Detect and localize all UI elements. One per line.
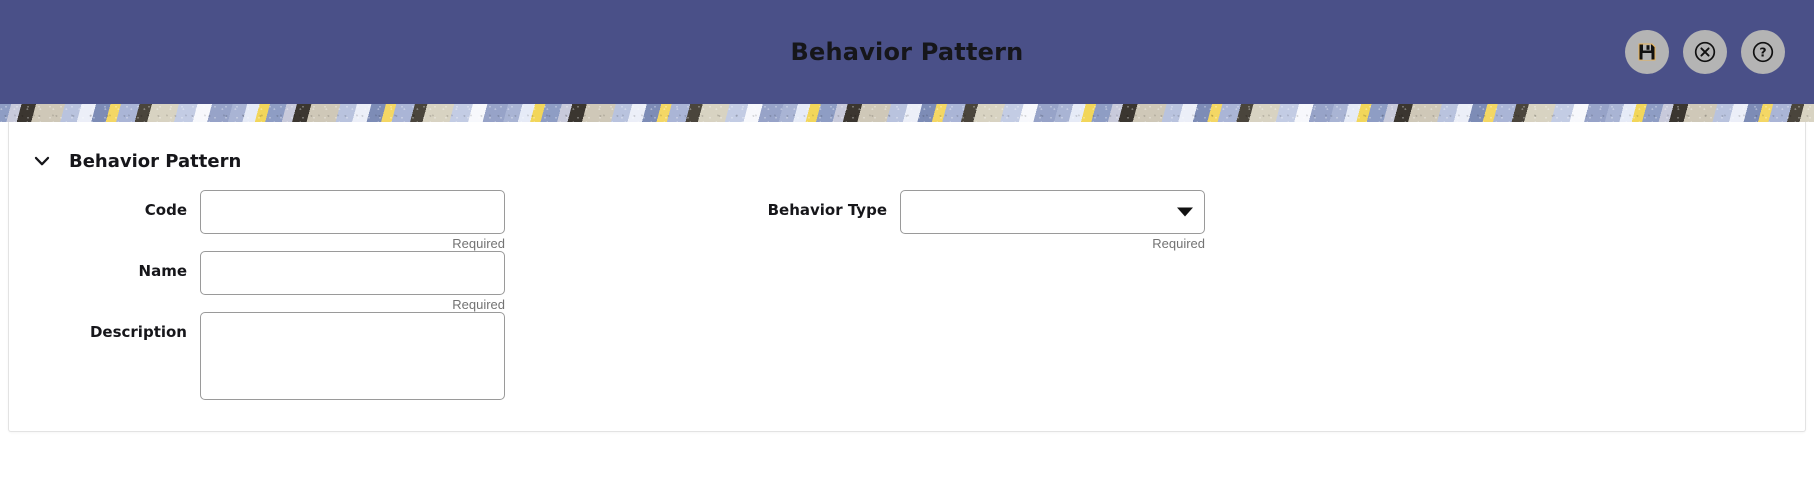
field-control-behavior-type: Required — [900, 190, 1205, 251]
field-label-behavior-type: Behavior Type — [709, 190, 900, 219]
behavior-type-select[interactable] — [900, 190, 1205, 234]
floppy-disk-icon — [1636, 41, 1658, 63]
field-control-code: Required — [200, 190, 505, 251]
save-button[interactable] — [1625, 30, 1669, 74]
titlebar-actions: ? — [1625, 30, 1785, 74]
name-input[interactable] — [200, 251, 505, 295]
code-input[interactable] — [200, 190, 505, 234]
svg-text:?: ? — [1759, 45, 1766, 60]
form-column-right: Behavior Type Required — [709, 190, 1409, 251]
cancel-button[interactable] — [1683, 30, 1727, 74]
form-card: Behavior Pattern Code Required Name — [8, 122, 1806, 432]
field-label-description: Description — [9, 312, 200, 341]
field-label-name: Name — [9, 251, 200, 280]
field-control-name: Required — [200, 251, 505, 312]
field-code: Code Required — [9, 190, 709, 251]
field-control-description — [200, 312, 505, 400]
help-button[interactable]: ? — [1741, 30, 1785, 74]
section-header: Behavior Pattern — [9, 122, 1805, 172]
titlebar: Behavior Pattern — [0, 0, 1814, 104]
close-circle-icon — [1693, 40, 1717, 64]
section-title: Behavior Pattern — [69, 151, 241, 172]
chevron-down-icon[interactable] — [31, 150, 53, 172]
field-behavior-type: Behavior Type Required — [709, 190, 1409, 251]
field-description: Description — [9, 312, 709, 400]
description-textarea[interactable] — [200, 312, 505, 400]
field-name: Name Required — [9, 251, 709, 312]
behavior-type-select-wrap — [900, 190, 1205, 234]
code-helper-text: Required — [200, 236, 505, 251]
name-helper-text: Required — [200, 297, 505, 312]
stripe-grain-texture — [0, 104, 1814, 122]
behavior-pattern-page: Behavior Pattern — [0, 0, 1814, 494]
page-title: Behavior Pattern — [791, 38, 1024, 66]
behavior-type-helper-text: Required — [900, 236, 1205, 251]
field-label-code: Code — [9, 190, 200, 219]
decorative-stripe-band — [0, 104, 1814, 122]
question-circle-icon: ? — [1751, 40, 1775, 64]
form-column-left: Code Required Name Required De — [9, 190, 709, 400]
